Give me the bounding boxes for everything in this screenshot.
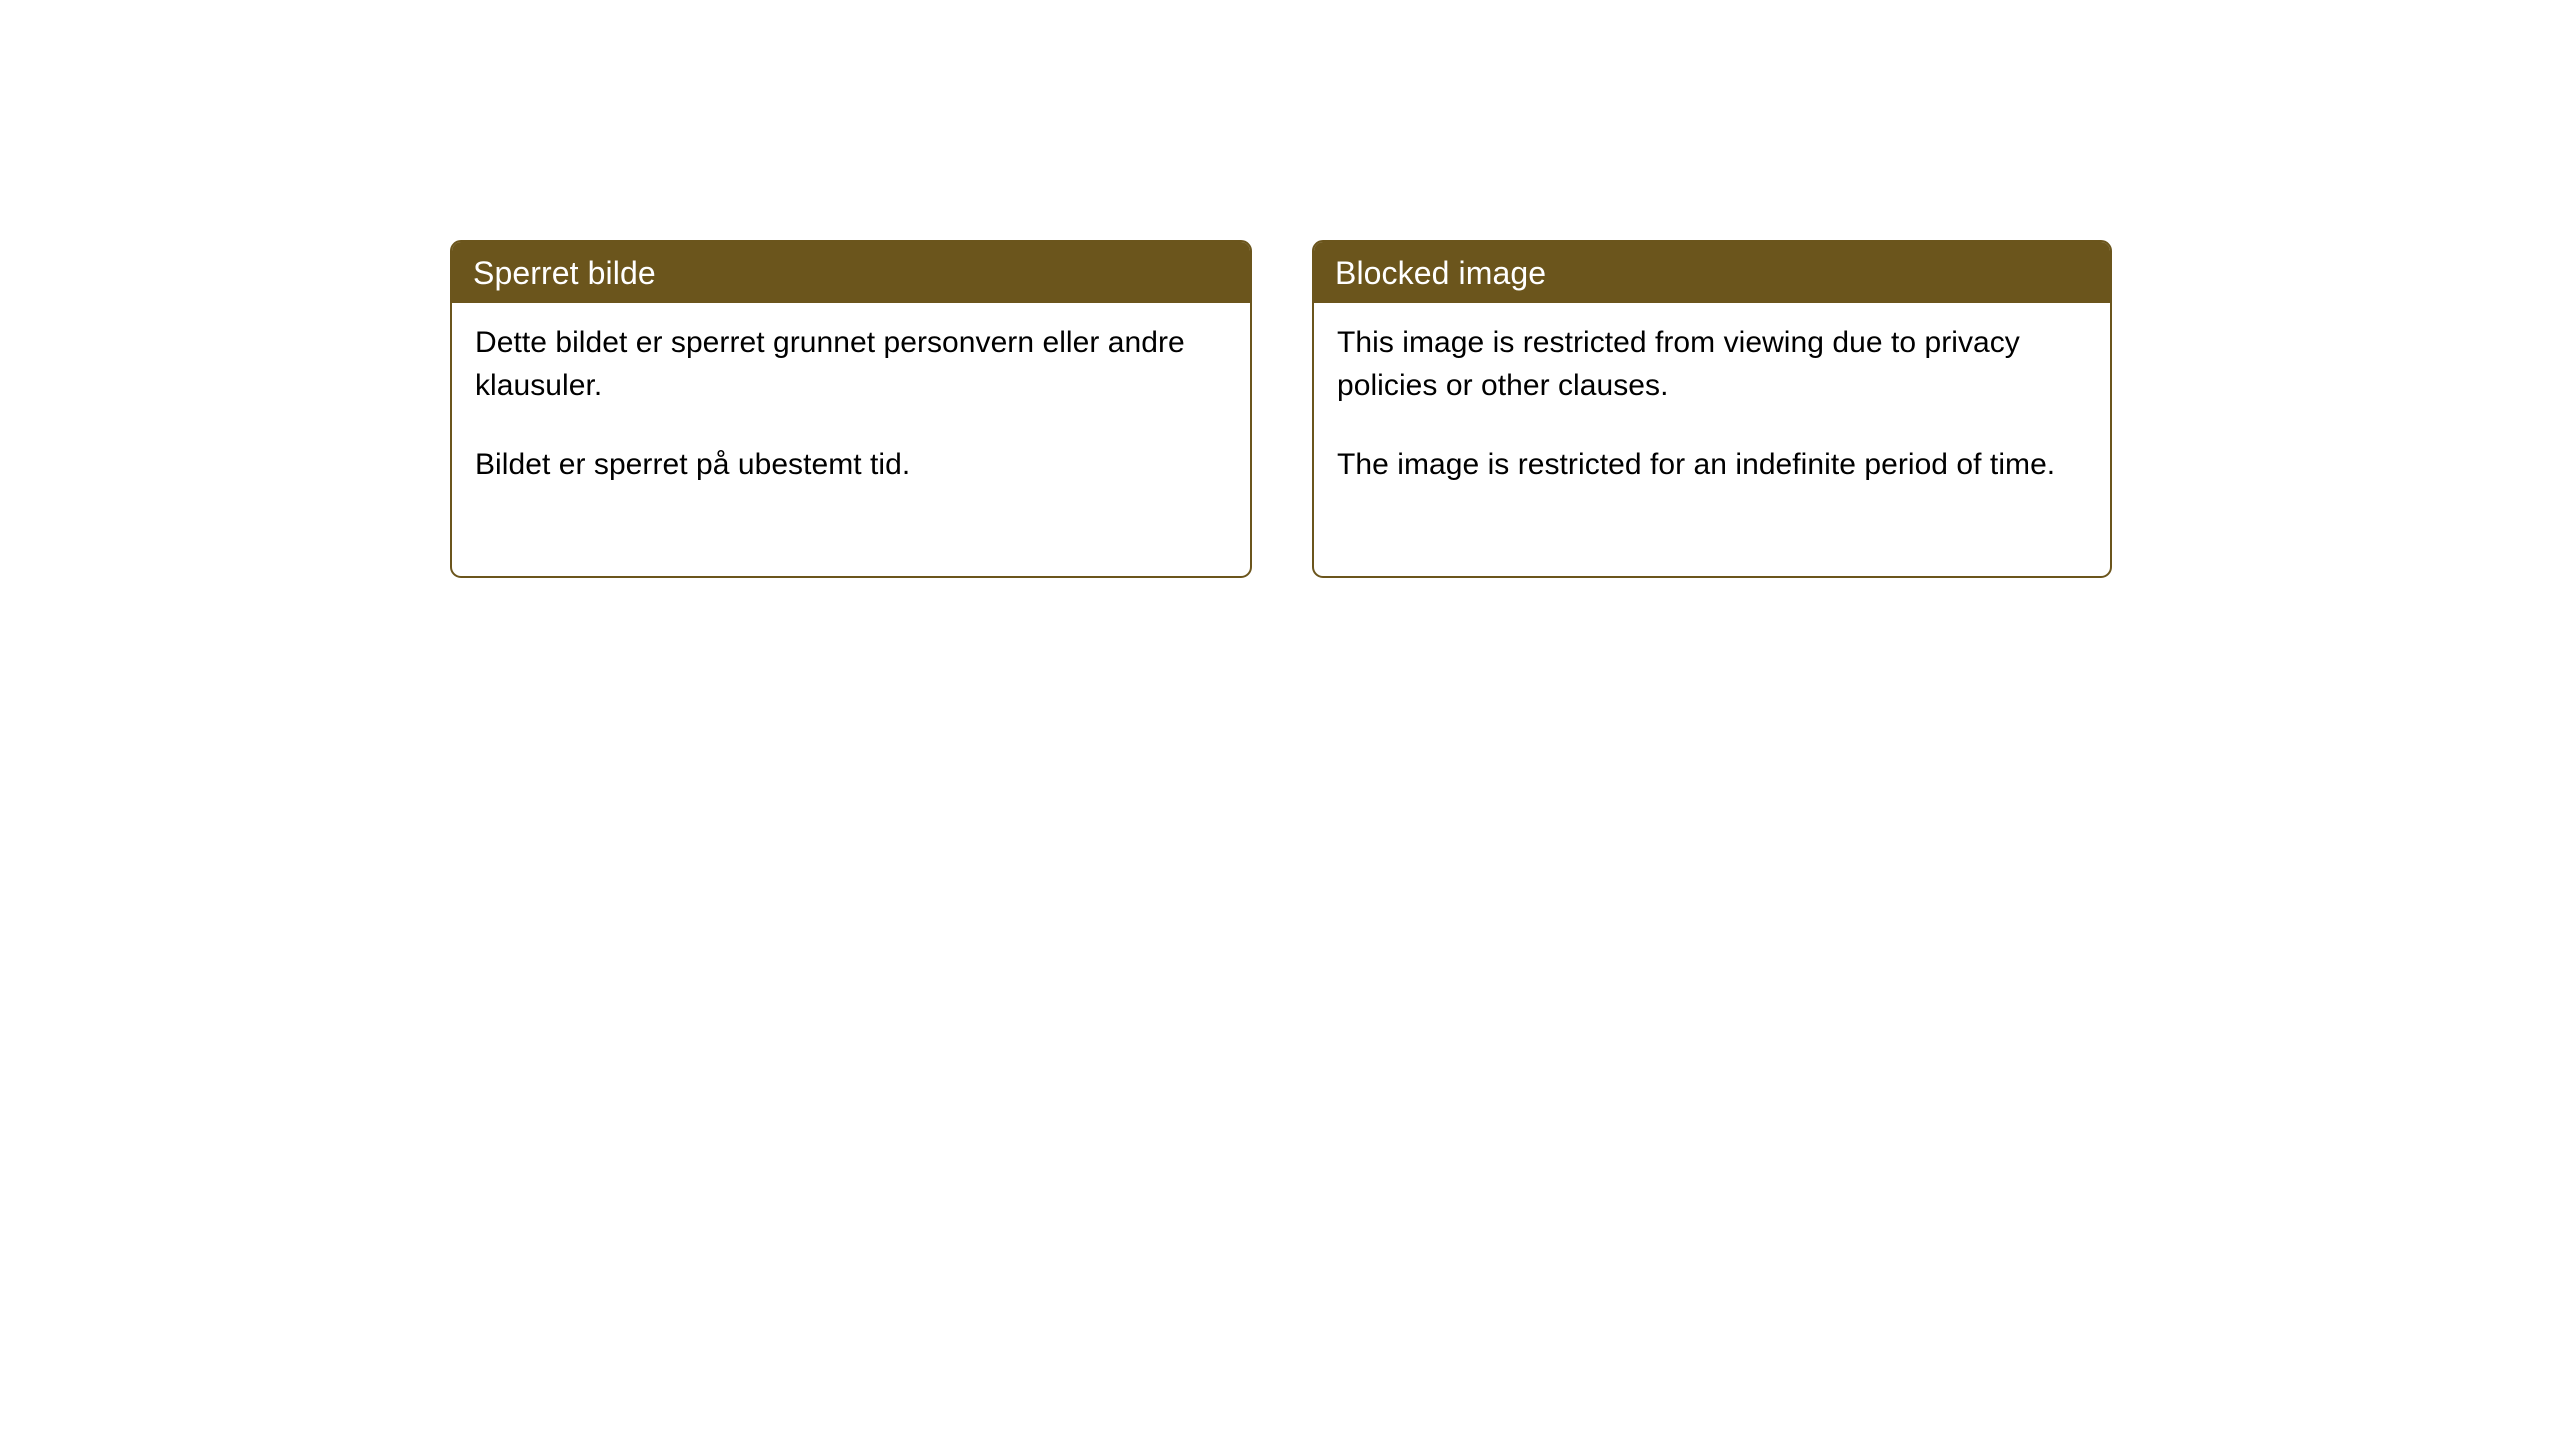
card-paragraph-no-1: Dette bildet er sperret grunnet personve… bbox=[475, 321, 1226, 407]
card-title-no: Sperret bilde bbox=[473, 256, 656, 290]
page-canvas: Sperret bilde Dette bildet er sperret gr… bbox=[0, 0, 2560, 1440]
card-header-no: Sperret bilde bbox=[452, 242, 1250, 303]
card-paragraph-en-2: The image is restricted for an indefinit… bbox=[1337, 443, 2086, 486]
card-paragraph-en-1: This image is restricted from viewing du… bbox=[1337, 321, 2086, 407]
blocked-image-notice-card-en: Blocked image This image is restricted f… bbox=[1312, 240, 2112, 578]
blocked-image-notice-card-no: Sperret bilde Dette bildet er sperret gr… bbox=[450, 240, 1252, 578]
card-header-en: Blocked image bbox=[1314, 242, 2110, 303]
card-body-en: This image is restricted from viewing du… bbox=[1314, 303, 2110, 486]
card-paragraph-no-2: Bildet er sperret på ubestemt tid. bbox=[475, 443, 1226, 486]
card-body-no: Dette bildet er sperret grunnet personve… bbox=[452, 303, 1250, 486]
card-title-en: Blocked image bbox=[1335, 256, 1546, 290]
